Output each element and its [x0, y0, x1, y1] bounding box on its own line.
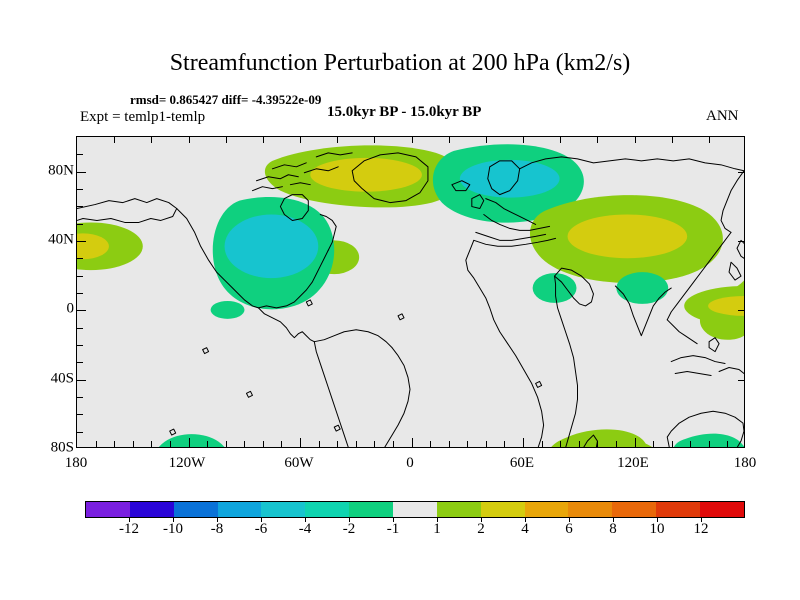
- y-tick-label: 80N: [48, 163, 74, 180]
- x-minor-tick: [374, 441, 375, 447]
- y-minor-tick: [77, 276, 83, 277]
- x-top-tick: [635, 137, 636, 143]
- page-title: Streamfunction Perturbation at 200 hPa (…: [0, 50, 800, 77]
- y-right-tick: [738, 380, 744, 381]
- season-annotation: ANN: [706, 108, 739, 125]
- y-right-tick: [738, 172, 744, 173]
- y-minor-tick: [77, 293, 83, 294]
- period-annotation: 15.0kyr BP - 15.0kyr BP: [327, 104, 481, 121]
- colorbar-cell: [86, 502, 130, 517]
- x-major-tick: [300, 438, 301, 447]
- x-minor-tick: [542, 441, 543, 447]
- x-major-tick: [523, 438, 524, 447]
- x-minor-tick: [467, 441, 468, 447]
- x-minor-tick: [727, 441, 728, 447]
- x-minor-tick: [319, 441, 320, 447]
- y-minor-tick: [77, 258, 83, 259]
- colorbar-cell: [393, 502, 437, 517]
- x-minor-tick: [672, 441, 673, 447]
- x-top-tick: [672, 137, 673, 143]
- x-minor-tick: [226, 441, 227, 447]
- x-top-tick: [560, 137, 561, 143]
- y-right-tick: [738, 310, 744, 311]
- x-minor-tick: [114, 441, 115, 447]
- y-minor-tick: [77, 414, 83, 415]
- x-tick-label: 60E: [510, 455, 534, 472]
- x-top-tick: [597, 137, 598, 143]
- x-major-tick: [189, 438, 190, 447]
- colorbar-cell: [349, 502, 393, 517]
- x-minor-tick: [579, 441, 580, 447]
- x-top-tick: [189, 137, 190, 143]
- x-top-tick: [263, 137, 264, 143]
- x-minor-tick: [616, 441, 617, 447]
- x-tick-label: 180: [65, 455, 88, 472]
- world-map-canvas: [77, 137, 744, 447]
- y-minor-tick: [77, 362, 83, 363]
- y-minor-tick: [77, 432, 83, 433]
- x-top-tick: [486, 137, 487, 143]
- x-minor-tick: [690, 441, 691, 447]
- colorbar-tick-label: 10: [650, 521, 665, 538]
- colorbar-tick-label: 4: [521, 521, 529, 538]
- y-minor-tick: [77, 345, 83, 346]
- colorbar-cell: [612, 502, 656, 517]
- map-plot-area: [76, 136, 745, 448]
- x-minor-tick: [653, 441, 654, 447]
- y-tick-label: 40N: [48, 232, 74, 249]
- x-minor-tick: [709, 441, 710, 447]
- y-minor-tick: [77, 206, 83, 207]
- x-minor-tick: [281, 441, 282, 447]
- colorbar-tick-label: -8: [211, 521, 224, 538]
- x-minor-tick: [449, 441, 450, 447]
- colorbar-tick-label: -1: [387, 521, 400, 538]
- x-top-tick: [449, 137, 450, 143]
- x-minor-tick: [486, 441, 487, 447]
- colorbar-tick-label: 2: [477, 521, 485, 538]
- y-tick-label: 0: [67, 301, 75, 318]
- colorbar-cell: [261, 502, 305, 517]
- x-major-tick: [412, 438, 413, 447]
- x-top-tick: [523, 137, 524, 143]
- colorbar-cell: [218, 502, 262, 517]
- colorbar-tick-label: 12: [694, 521, 709, 538]
- colorbar-cell: [700, 502, 744, 517]
- colorbar: [85, 501, 745, 518]
- x-minor-tick: [430, 441, 431, 447]
- y-minor-tick: [77, 224, 83, 225]
- x-minor-tick: [393, 441, 394, 447]
- colorbar-tick-label: -2: [343, 521, 356, 538]
- contour-fills: [77, 144, 744, 447]
- x-minor-tick: [356, 441, 357, 447]
- rmsd-annotation: rmsd= 0.865427 diff= -4.39522e-09: [130, 92, 321, 108]
- x-minor-tick: [244, 441, 245, 447]
- x-minor-tick: [597, 441, 598, 447]
- x-minor-tick: [504, 441, 505, 447]
- x-tick-label: 180: [734, 455, 757, 472]
- y-major-tick: [77, 241, 86, 242]
- y-right-tick: [738, 241, 744, 242]
- colorbar-tick-label: -10: [163, 521, 183, 538]
- x-minor-tick: [170, 441, 171, 447]
- y-major-tick: [77, 380, 86, 381]
- colorbar-cell: [481, 502, 525, 517]
- colorbar-tick-label: 6: [565, 521, 573, 538]
- colorbar-cell: [656, 502, 700, 517]
- x-top-tick: [412, 137, 413, 143]
- x-top-tick: [337, 137, 338, 143]
- x-tick-label: 120E: [617, 455, 649, 472]
- colorbar-cell: [305, 502, 349, 517]
- y-major-tick: [77, 310, 86, 311]
- colorbar-cell: [174, 502, 218, 517]
- colorbar-tick-label: -12: [119, 521, 139, 538]
- colorbar-cell: [525, 502, 569, 517]
- x-top-tick: [151, 137, 152, 143]
- experiment-annotation: Expt = temlp1-temlp: [80, 109, 205, 126]
- y-major-tick: [77, 172, 86, 173]
- x-minor-tick: [207, 441, 208, 447]
- x-minor-tick: [560, 441, 561, 447]
- x-tick-label: 60W: [284, 455, 313, 472]
- colorbar-tick-label: -6: [255, 521, 268, 538]
- x-tick-label: 0: [406, 455, 414, 472]
- x-major-tick: [635, 438, 636, 447]
- colorbar-cell: [130, 502, 174, 517]
- y-minor-tick: [77, 328, 83, 329]
- y-minor-tick: [77, 189, 83, 190]
- colorbar-cell: [568, 502, 612, 517]
- x-top-tick: [709, 137, 710, 143]
- x-top-tick: [114, 137, 115, 143]
- colorbar-tick-label: -4: [299, 521, 312, 538]
- x-top-tick: [226, 137, 227, 143]
- x-top-tick: [300, 137, 301, 143]
- y-tick-label: 80S: [51, 440, 74, 457]
- x-minor-tick: [263, 441, 264, 447]
- colorbar-tick-label: 1: [433, 521, 441, 538]
- x-minor-tick: [337, 441, 338, 447]
- x-tick-label: 120W: [169, 455, 206, 472]
- y-minor-tick: [77, 397, 83, 398]
- y-tick-label: 40S: [51, 371, 74, 388]
- x-top-tick: [374, 137, 375, 143]
- colorbar-tick-label: 8: [609, 521, 617, 538]
- y-minor-tick: [77, 154, 83, 155]
- x-minor-tick: [96, 441, 97, 447]
- x-minor-tick: [151, 441, 152, 447]
- x-minor-tick: [133, 441, 134, 447]
- colorbar-cell: [437, 502, 481, 517]
